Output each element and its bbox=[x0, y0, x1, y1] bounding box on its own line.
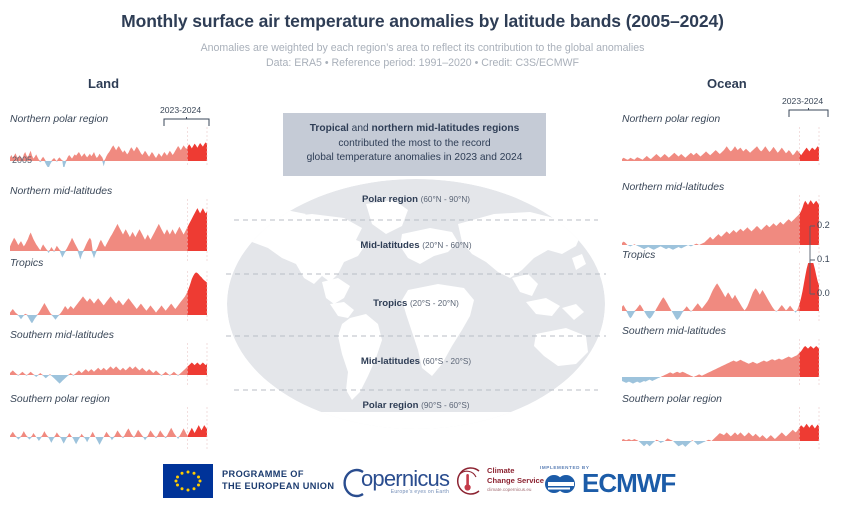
callout-bold-tropical: Tropical bbox=[310, 123, 349, 134]
chart-plot bbox=[622, 263, 823, 321]
c3s-thermometer-icon bbox=[452, 466, 482, 496]
map-band-name-4: Polar region bbox=[362, 400, 418, 411]
chart-ocean-tropics: Tropics bbox=[622, 250, 837, 321]
callout-line-1: Tropical and northern mid-latitudes regi… bbox=[291, 122, 538, 137]
chart-series-label: Southern mid-latitudes bbox=[622, 326, 837, 337]
chart-land-southern-mid-latitudes: Southern mid-latitudes bbox=[10, 330, 225, 385]
chart-series-label: Tropics bbox=[622, 250, 837, 261]
callout-line-3: global temperature anomalies in 2023 and… bbox=[291, 151, 538, 166]
c3s-text-line-1: Climate bbox=[487, 466, 544, 476]
map-band-name-3: Mid-latitudes bbox=[361, 356, 420, 367]
chart-plot bbox=[622, 127, 823, 167]
callout-bold-nml: northern mid-latitudes regions bbox=[372, 123, 520, 134]
footer: PROGRAMME OF THE EUROPEAN UNION opernicu… bbox=[0, 452, 845, 509]
chart-series-label: Southern polar region bbox=[10, 394, 225, 405]
chart-plot bbox=[622, 407, 823, 451]
header: Monthly surface air temperature anomalie… bbox=[0, 0, 845, 69]
eu-flag-icon bbox=[163, 464, 213, 498]
y-tick-0: 0.2 bbox=[817, 220, 830, 230]
copernicus-c-icon bbox=[339, 468, 365, 498]
land-column-heading: Land bbox=[88, 76, 119, 91]
chart-plot bbox=[622, 195, 823, 253]
map-band-range-2: (20°S - 20°N) bbox=[410, 299, 459, 308]
chart-ocean-northern-polar-region: Northern polar region bbox=[622, 114, 837, 167]
chart-series-label: Southern polar region bbox=[622, 394, 837, 405]
chart-plot bbox=[10, 199, 211, 261]
y-tick-2: 0.0 bbox=[817, 288, 830, 298]
callout-conjunction: and bbox=[349, 123, 372, 134]
subtitle-line-1: Anomalies are weighted by each region’s … bbox=[0, 42, 845, 54]
chart-ocean-southern-mid-latitudes: Southern mid-latitudes bbox=[622, 326, 837, 387]
chart-plot bbox=[10, 407, 211, 449]
c3s-logo-text: Climate Change Service climate.copernicu… bbox=[487, 466, 544, 495]
map-band-range-4: (90°S - 60°S) bbox=[421, 401, 469, 410]
map-band-range-0: (60°N - 90°N) bbox=[421, 195, 470, 204]
chart-series-label: Southern mid-latitudes bbox=[10, 330, 225, 341]
map-band-label-2: Tropics (20°S - 20°N) bbox=[226, 298, 606, 309]
chart-plot bbox=[10, 343, 211, 385]
y-tick-1: 0.1 bbox=[817, 254, 830, 264]
chart-land-northern-mid-latitudes: Northern mid-latitudes bbox=[10, 186, 225, 261]
chart-land-southern-polar-region: Southern polar region bbox=[10, 394, 225, 449]
ocean-tropics-y-axis: 0.2 0.1 0.0 bbox=[806, 224, 844, 296]
start-year-label: 2005 bbox=[12, 155, 32, 165]
eu-logo: PROGRAMME OF THE EUROPEAN UNION bbox=[163, 452, 334, 509]
ocean-highlight-bracket bbox=[788, 108, 830, 118]
copernicus-logo: opernicus Europe’s eyes on Earth bbox=[341, 452, 449, 509]
eu-logo-text: PROGRAMME OF THE EUROPEAN UNION bbox=[222, 469, 334, 492]
land-highlight-bracket bbox=[163, 117, 211, 127]
callout-box: Tropical and northern mid-latitudes regi… bbox=[283, 113, 546, 176]
ocean-column-heading: Ocean bbox=[707, 76, 747, 91]
chart-plot bbox=[10, 127, 211, 167]
ecmwf-cloud-icon bbox=[540, 470, 580, 496]
chart-ocean-northern-mid-latitudes: Northern mid-latitudes bbox=[622, 182, 837, 253]
chart-plot bbox=[622, 339, 823, 387]
chart-land-tropics: Tropics bbox=[10, 258, 225, 323]
c3s-logo: Climate Change Service climate.copernicu… bbox=[452, 452, 544, 509]
map-band-range-3: (60°S - 20°S) bbox=[423, 357, 471, 366]
land-charts-panel: Northern polar regionNorthern mid-latitu… bbox=[10, 100, 225, 430]
eu-text-line-2: THE EUROPEAN UNION bbox=[222, 481, 334, 493]
map-band-name-1: Mid-latitudes bbox=[360, 240, 419, 251]
map-band-label-0: Polar region (60°N - 90°N) bbox=[226, 194, 606, 205]
map-band-range-1: (20°N - 60°N) bbox=[422, 241, 471, 250]
chart-plot bbox=[10, 271, 211, 323]
eu-text-line-1: PROGRAMME OF bbox=[222, 469, 334, 481]
subtitle-line-2: Data: ERA5 • Reference period: 1991–2020… bbox=[0, 57, 845, 69]
page-title: Monthly surface air temperature anomalie… bbox=[0, 11, 845, 32]
map-band-name-2: Tropics bbox=[373, 298, 407, 309]
map-band-label-4: Polar region (90°S - 60°S) bbox=[226, 400, 606, 411]
chart-series-label: Northern mid-latitudes bbox=[10, 186, 225, 197]
map-band-label-1: Mid-latitudes (20°N - 60°N) bbox=[226, 240, 606, 251]
c3s-text-line-2: Change Service bbox=[487, 476, 544, 486]
chart-series-label: Tropics bbox=[10, 258, 225, 269]
world-map: Polar region (60°N - 90°N) Mid-latitudes… bbox=[226, 178, 606, 430]
map-band-label-3: Mid-latitudes (60°S - 20°S) bbox=[226, 356, 606, 367]
ecmwf-wordmark: ECMWF bbox=[582, 470, 675, 496]
land-highlight-band-label: 2023-2024 bbox=[160, 105, 201, 115]
callout-line-2: contributed the most to the record bbox=[291, 137, 538, 152]
chart-ocean-southern-polar-region: Southern polar region bbox=[622, 394, 837, 451]
ocean-highlight-band-label: 2023-2024 bbox=[782, 96, 823, 106]
chart-series-label: Northern mid-latitudes bbox=[622, 182, 837, 193]
ecmwf-logo: IMPLEMENTED BY ECMWF bbox=[540, 452, 675, 509]
map-band-name-0: Polar region bbox=[362, 194, 418, 205]
c3s-url: climate.copernicus.eu bbox=[487, 485, 544, 495]
ocean-charts-panel: Northern polar regionNorthern mid-latitu… bbox=[622, 100, 837, 430]
